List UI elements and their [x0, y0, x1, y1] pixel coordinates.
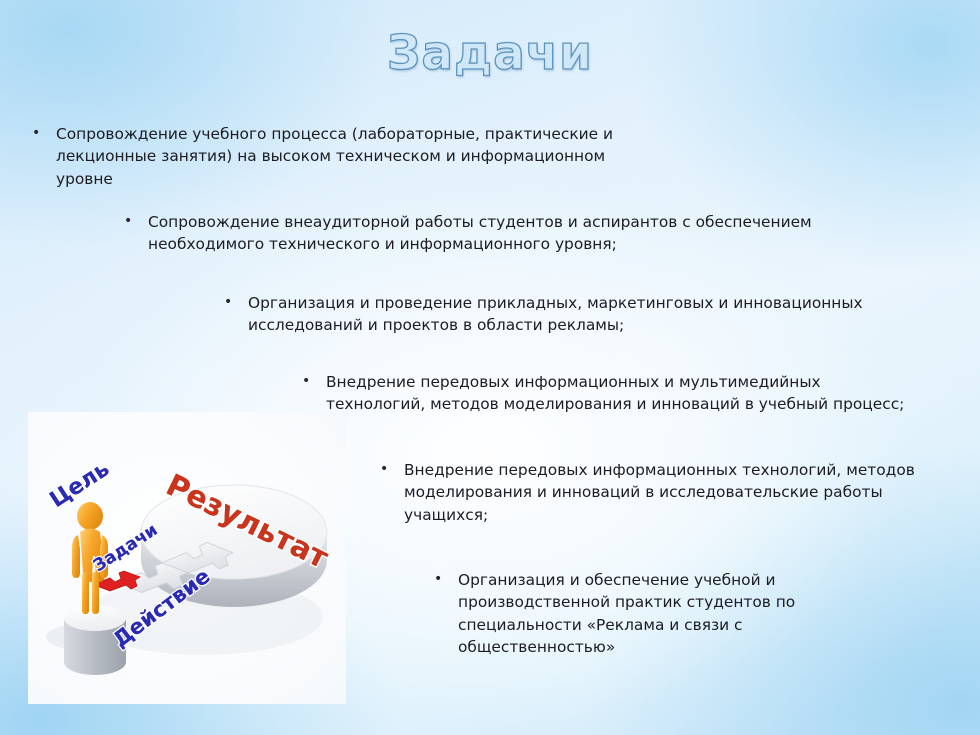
- goal-result-illustration: Цель Цель Задачи Задачи Действие Действи…: [28, 412, 346, 704]
- bullet-item-5: • Внедрение передовых информационных тех…: [378, 459, 948, 526]
- bullet-marker-icon: •: [222, 292, 248, 312]
- page-title: Задачи: [0, 26, 980, 82]
- bullet-marker-icon: •: [432, 569, 458, 589]
- bullet-item-2: • Сопровождение внеаудиторной работы сту…: [122, 211, 882, 256]
- bullet-text-4: Внедрение передовых информационных и мул…: [326, 371, 920, 416]
- bullet-item-4: • Внедрение передовых информационных и м…: [300, 371, 920, 416]
- bullet-item-1: • Сопровождение учебного процесса (лабор…: [30, 123, 630, 190]
- bullet-text-1: Сопровождение учебного процесса (лаборат…: [56, 123, 630, 190]
- bullet-item-6: • Организация и обеспечение учебной и пр…: [432, 569, 852, 658]
- bullet-text-3: Организация и проведение прикладных, мар…: [248, 292, 922, 337]
- bullet-marker-icon: •: [378, 459, 404, 479]
- bullet-marker-icon: •: [122, 211, 148, 231]
- bullet-item-3: • Организация и проведение прикладных, м…: [222, 292, 922, 337]
- bullet-text-6: Организация и обеспечение учебной и прои…: [458, 569, 852, 658]
- slide-canvas: Задачи • Сопровождение учебного процесса…: [0, 0, 980, 735]
- bullet-marker-icon: •: [30, 123, 56, 143]
- bullet-text-2: Сопровождение внеаудиторной работы студе…: [148, 211, 882, 256]
- bullet-marker-icon: •: [300, 371, 326, 391]
- bullet-text-5: Внедрение передовых информационных техно…: [404, 459, 948, 526]
